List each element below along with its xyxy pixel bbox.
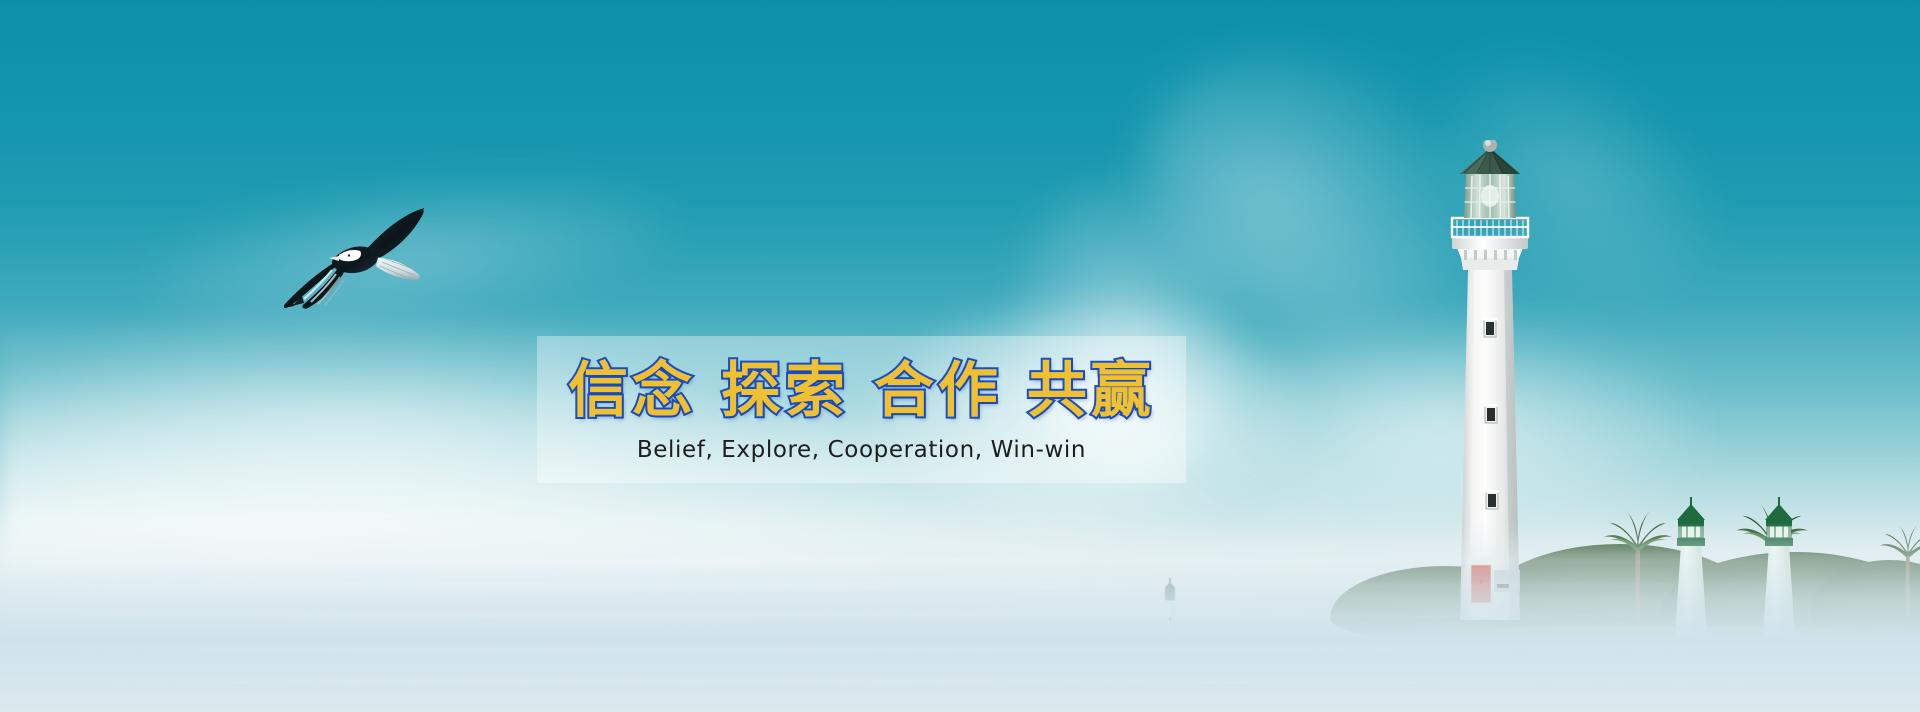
sea-water <box>0 522 1920 712</box>
eagle <box>282 196 432 316</box>
water-streak <box>0 614 1920 617</box>
headline-chinese: 信念 探索 合作 共赢 <box>568 361 1155 421</box>
water-streak <box>0 680 1920 683</box>
water-streak <box>0 648 1920 651</box>
headline-english: Belief, Explore, Cooperation, Win-win <box>637 437 1086 463</box>
water-streak <box>0 584 1920 587</box>
headline-panel: 信念 探索 合作 共赢 Belief, Explore, Cooperation… <box>537 336 1186 483</box>
bald-eagle-icon <box>282 196 432 316</box>
water-streak <box>0 560 1920 563</box>
hero-banner: 信念 探索 合作 共赢 Belief, Explore, Cooperation… <box>0 0 1920 712</box>
